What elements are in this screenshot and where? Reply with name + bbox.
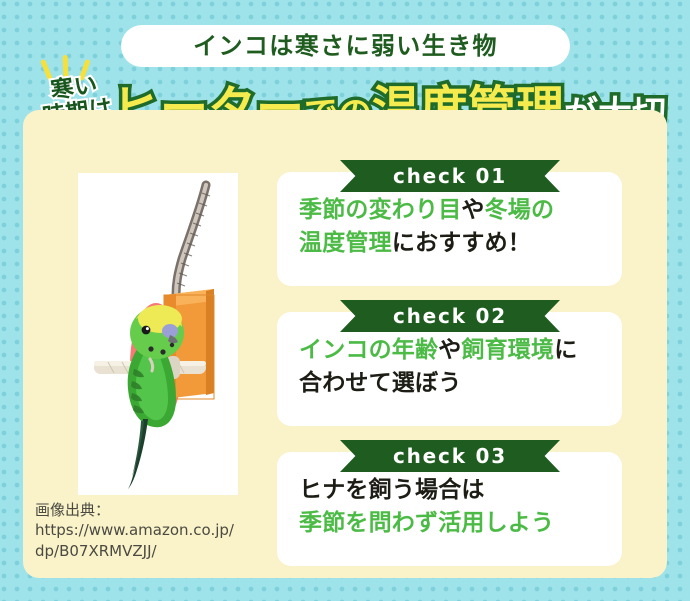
check-body-line-2: 合わせて選ぼう <box>299 367 609 400</box>
product-photo <box>78 173 238 495</box>
check-body-line-1: 季節の変わり目や冬場の <box>299 194 609 227</box>
highlight-text: 温度管理 <box>299 230 392 256</box>
credit-url-line-1: https://www.amazon.co.jp/ <box>35 520 270 540</box>
credit-url-line-2: dp/B07XRMVZJJ/ <box>35 541 270 561</box>
budgerigar-heater-illustration <box>78 173 238 495</box>
check-body-line-2: 季節を問わず活用しよう <box>299 507 609 540</box>
highlight-text: 飼育環境 <box>461 337 554 363</box>
check-body-line-1: ヒナを飼う場合は <box>299 474 609 507</box>
check-body-line-1: インコの年齢や飼育環境に <box>299 334 609 367</box>
check-ribbon-label: check 02 <box>340 300 560 332</box>
plain-text: 合わせて選ぼう <box>299 370 461 396</box>
highlight-text: 季節の変わり目 <box>299 197 461 223</box>
credit-label: 画像出典： <box>35 500 270 520</box>
highlight-text: 冬場の <box>485 197 555 223</box>
check-body-line-2: 温度管理におすすめ！ <box>299 227 609 260</box>
plain-text: や <box>438 337 461 363</box>
plain-text: に <box>554 337 577 363</box>
highlight-text: 季節を問わず活用しよう <box>299 510 554 536</box>
image-credit: 画像出典： https://www.amazon.co.jp/ dp/B07XR… <box>35 500 270 561</box>
highlight-text: インコの年齢 <box>299 337 438 363</box>
plain-text: ヒナを飼う場合は <box>299 477 485 503</box>
check-body-text: 季節の変わり目や冬場の 温度管理におすすめ！ <box>299 194 609 259</box>
top-banner-text: インコは寒さに弱い生き物 <box>193 34 498 58</box>
plain-text: や <box>461 197 484 223</box>
plain-text: におすすめ！ <box>392 230 531 256</box>
check-body-text: ヒナを飼う場合は 季節を問わず活用しよう <box>299 474 609 539</box>
top-banner-pill: インコは寒さに弱い生き物 <box>121 25 570 67</box>
check-body-text: インコの年齢や飼育環境に 合わせて選ぼう <box>299 334 609 399</box>
infographic-canvas: インコは寒さに弱い生き物 寒い 時期は ヒーターでの温度管理が大切 <box>0 0 690 601</box>
check-ribbon-label: check 01 <box>340 160 560 192</box>
check-ribbon-label: check 03 <box>340 440 560 472</box>
